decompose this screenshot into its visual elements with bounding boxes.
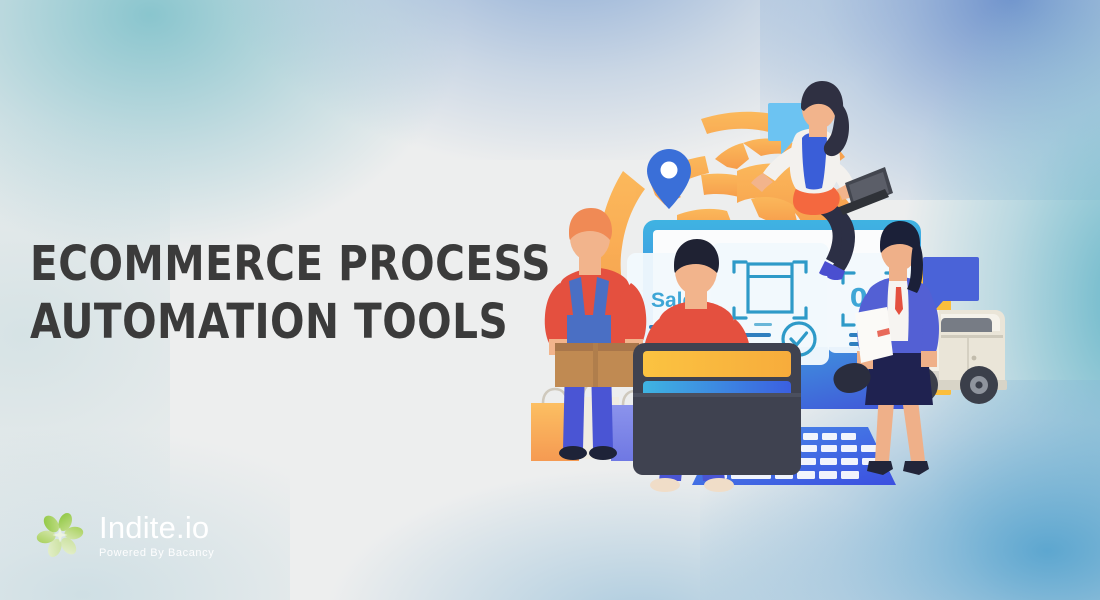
page-title-line-2: Automation Tools — [30, 293, 472, 351]
location-pin-icon — [647, 149, 691, 209]
logo[interactable]: Indite.io Powered By Bacancy — [33, 508, 214, 562]
logo-tagline: Powered By Bacancy — [99, 546, 214, 560]
logo-name: Indite.io — [99, 512, 214, 543]
wallet-icon — [633, 343, 801, 475]
page-title: Ecommerce Process Automation Tools — [30, 235, 472, 351]
page-title-line-1: Ecommerce Process — [30, 235, 472, 293]
ecommerce-automation-illustration: Sale — [505, 75, 1065, 505]
logo-text: Indite.io Powered By Bacancy — [99, 512, 214, 560]
background-wash-top-left — [0, 0, 460, 250]
green-leaf-pinwheel-icon — [33, 508, 87, 562]
banner: Ecommerce Process Automation Tools — [0, 0, 1100, 600]
